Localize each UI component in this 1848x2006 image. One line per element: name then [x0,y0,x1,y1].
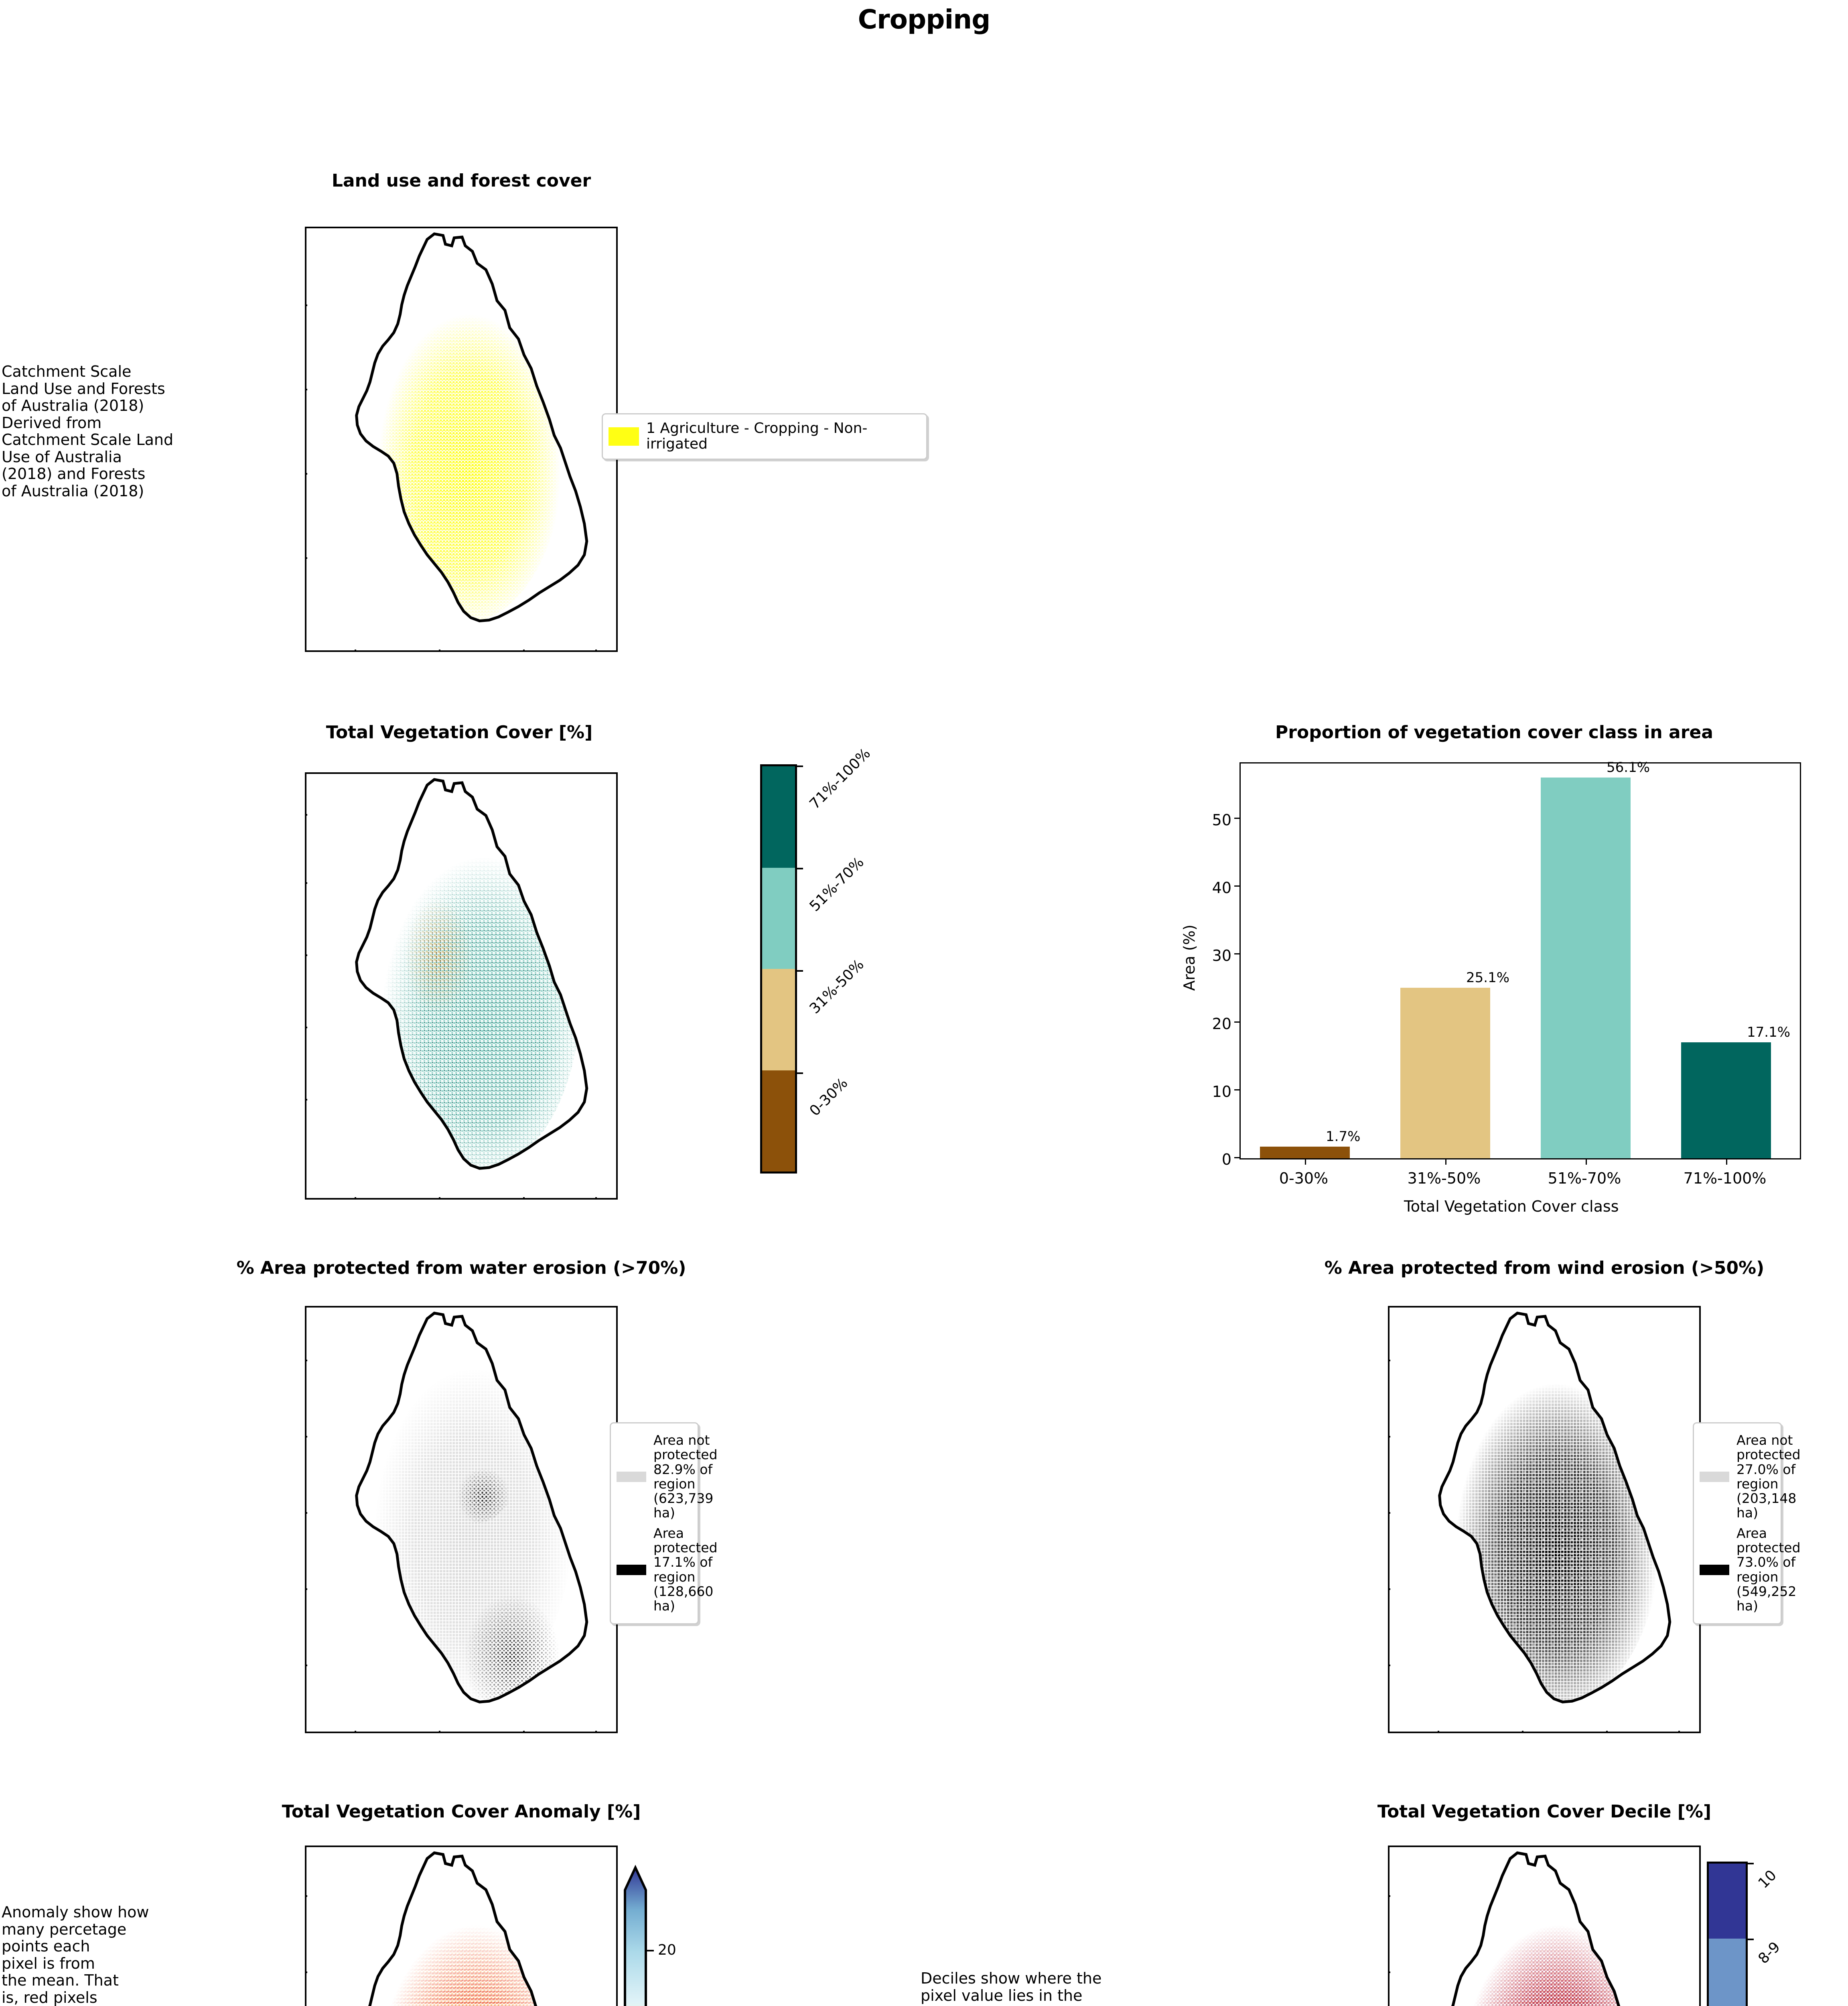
map-water-erosion[interactable] [305,1306,618,1733]
decile-label-8-9: 8-9 [1755,1939,1784,1967]
y-tick-label-30: 30 [1203,947,1231,964]
x-axis-title: Total Vegetation Cover class [1404,1198,1619,1215]
bar-0-30[interactable] [1260,1147,1350,1158]
bar-chart-plot-area: 1.7% 25.1% 56.1% 17.1% [1239,762,1801,1159]
veg-cover-map-svg [306,774,616,1198]
bar-chart-title: Proportion of vegetation cover class in … [1163,722,1825,743]
x-tick-label-0: 0-30% [1243,1169,1364,1187]
decile-label-10: 10 [1755,1867,1780,1892]
map-tick [523,1197,525,1200]
veg-cbar-label-31-50: 31%-50% [807,956,867,1017]
bar-value-label-3: 17.1% [1747,1024,1790,1040]
bar-value-label-0: 1.7% [1326,1129,1360,1145]
land-use-map-svg [306,228,616,650]
land-use-note: Catchment Scale Land Use and Forests of … [2,363,190,499]
cbar-seg-71-100 [762,766,795,868]
land-use-legend-swatch [609,427,639,446]
y-tick-label-0: 0 [1203,1151,1231,1168]
water-erosion-map-svg [306,1308,616,1732]
bar-value-label-1: 25.1% [1466,970,1509,986]
wind-erosion-swatch-protected [1700,1565,1729,1575]
panel-title-anomaly: Total Vegetation Cover Anomaly [%] [221,1801,702,1822]
wind-erosion-label-protected: Area protected 73.0% of region (549,252 … [1736,1526,1801,1614]
anomaly-colorbar-svg [618,1852,662,2006]
y-tick-label-20: 20 [1203,1015,1231,1033]
map-tick [523,650,525,652]
map-tick [305,954,307,956]
map-tick [439,1197,440,1200]
map-tick [305,882,307,884]
map-anomaly[interactable] [305,1846,618,2006]
panel-title-veg-cover: Total Vegetation Cover [%] [299,722,620,743]
map-tick [355,1197,356,1200]
y-tick-label-50: 50 [1203,811,1231,829]
page-title: Cropping [0,4,1848,35]
y-axis-title: Area (%) [1181,908,1198,1008]
water-erosion-swatch-protected [617,1565,646,1575]
bar-31-50[interactable] [1400,988,1490,1158]
map-tick [439,650,440,652]
decile-map-svg [1390,1847,1699,2006]
wind-erosion-map-svg [1390,1308,1699,1732]
map-total-vegetation-cover[interactable] [305,772,618,1200]
map-tick [595,1197,597,1200]
x-tick-label-1: 31%-50% [1384,1169,1504,1187]
land-use-legend-label: 1 Agriculture - Cropping - Non-irrigated [646,421,921,452]
map-tick [305,389,307,390]
map-decile[interactable] [1388,1846,1701,2006]
map-land-use[interactable] [305,227,618,652]
cbar-seg-51-70 [762,868,795,969]
panel-title-land-use: Land use and forest cover [305,171,618,191]
decile-note: Deciles show where the pixel value lies … [921,1970,1165,2006]
veg-cbar-label-51-70: 51%-70% [807,854,867,915]
map-tick [305,1099,307,1100]
wind-erosion-swatch-not-protected [1700,1472,1729,1482]
veg-cbar-label-71-100: 71%-100% [807,745,874,812]
bar-51-70[interactable] [1541,778,1631,1158]
y-tick-label-10: 10 [1203,1083,1231,1100]
panel-title-water-erosion: % Area protected from water erosion (>70… [181,1258,742,1278]
map-tick [305,473,307,475]
x-tick-label-2: 51%-70% [1524,1169,1645,1187]
map-tick [305,814,307,816]
bar-71-100[interactable] [1681,1042,1771,1158]
x-tick-label-3: 71%-100% [1665,1169,1785,1187]
map-tick [305,1027,307,1028]
decile-colorbar [1707,1862,1748,2006]
water-erosion-swatch-not-protected [617,1472,646,1482]
land-use-legend[interactable]: 1 Agriculture - Cropping - Non-irrigated [602,413,927,460]
map-wind-erosion[interactable] [1388,1306,1701,1733]
cbar-seg-31-50 [762,969,795,1070]
decile-seg-8-9 [1709,1939,1746,2006]
anomaly-tick-20: 20 [658,1942,676,1958]
bar-value-label-2: 56.1% [1607,759,1650,776]
bar-chart: Proportion of vegetation cover class in … [1163,722,1825,1228]
water-erosion-label-protected: Area protected 17.1% of region (128,660 … [653,1526,718,1614]
y-tick-label-40: 40 [1203,879,1231,897]
cbar-seg-0-30 [762,1070,795,1172]
map-tick [305,305,307,306]
map-tick [355,650,356,652]
anomaly-note: Anomaly show how many percetage points e… [2,1904,186,2006]
panel-title-wind-erosion: % Area protected from wind erosion (>50%… [1264,1258,1825,1278]
anomaly-map-svg [306,1847,616,2006]
decile-seg-10 [1709,1864,1746,1939]
anomaly-colorbar [618,1852,662,2006]
water-erosion-label-not-protected: Area not protected 82.9% of region (623,… [653,1433,718,1521]
veg-cover-colorbar [760,764,797,1174]
water-erosion-legend[interactable]: Area not protected 82.9% of region (623,… [610,1422,699,1624]
map-tick [305,557,307,559]
panel-title-decile: Total Vegetation Cover Decile [%] [1304,1801,1785,1822]
wind-erosion-label-not-protected: Area not protected 27.0% of region (203,… [1736,1433,1801,1521]
wind-erosion-legend[interactable]: Area not protected 27.0% of region (203,… [1693,1422,1782,1624]
map-tick [595,650,597,652]
veg-cbar-label-0-30: 0-30% [807,1075,851,1119]
